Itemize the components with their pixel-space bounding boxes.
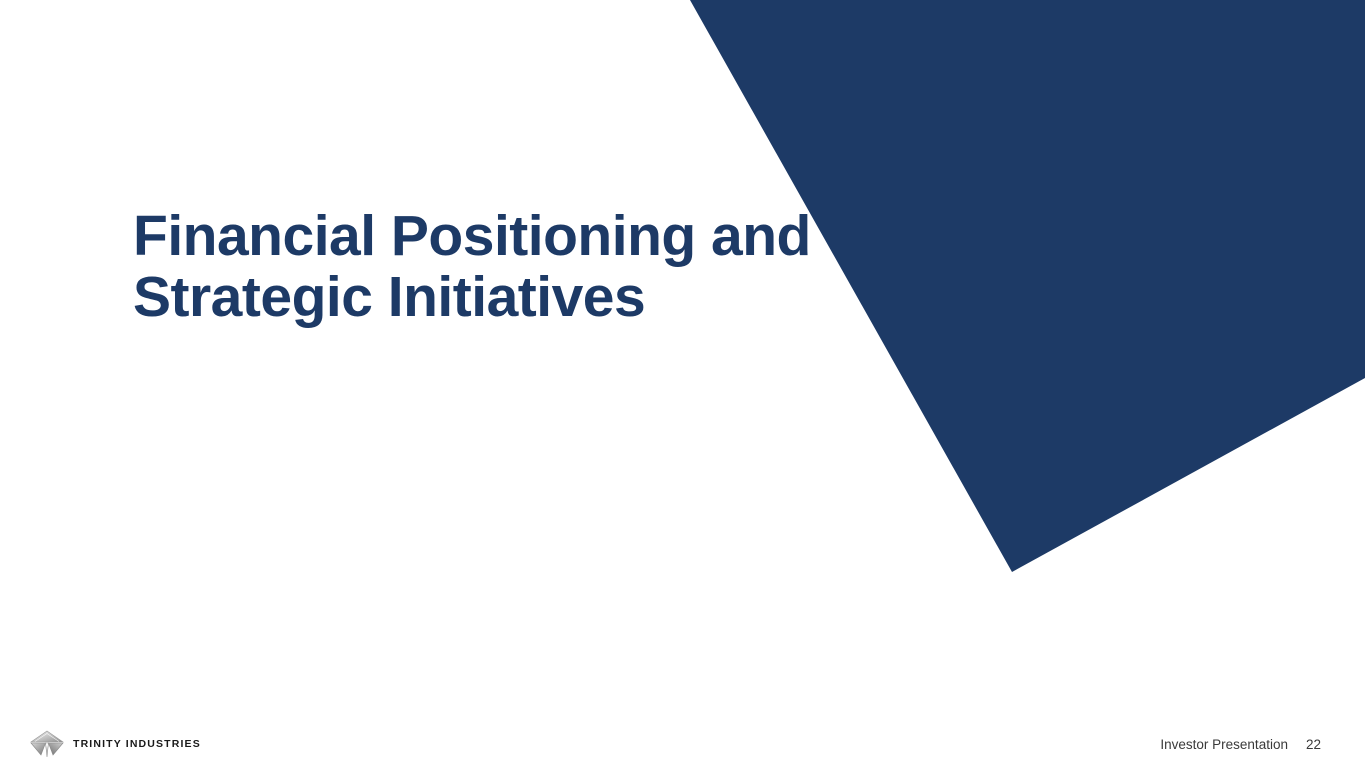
slide-container: Financial Positioning and Strategic Init…	[0, 0, 1365, 768]
trinity-diamond-logo-icon	[30, 729, 64, 759]
logo-wordmark: TRINITY INDUSTRIES	[73, 738, 201, 750]
page-title: Financial Positioning and Strategic Init…	[133, 206, 833, 328]
footer-meta: Investor Presentation 22	[1160, 737, 1321, 752]
navy-wedge-decoration	[0, 0, 1365, 768]
title-block: Financial Positioning and Strategic Init…	[133, 206, 833, 328]
company-logo: TRINITY INDUSTRIES	[30, 729, 201, 759]
presentation-label: Investor Presentation	[1160, 737, 1288, 752]
page-number: 22	[1306, 737, 1321, 752]
